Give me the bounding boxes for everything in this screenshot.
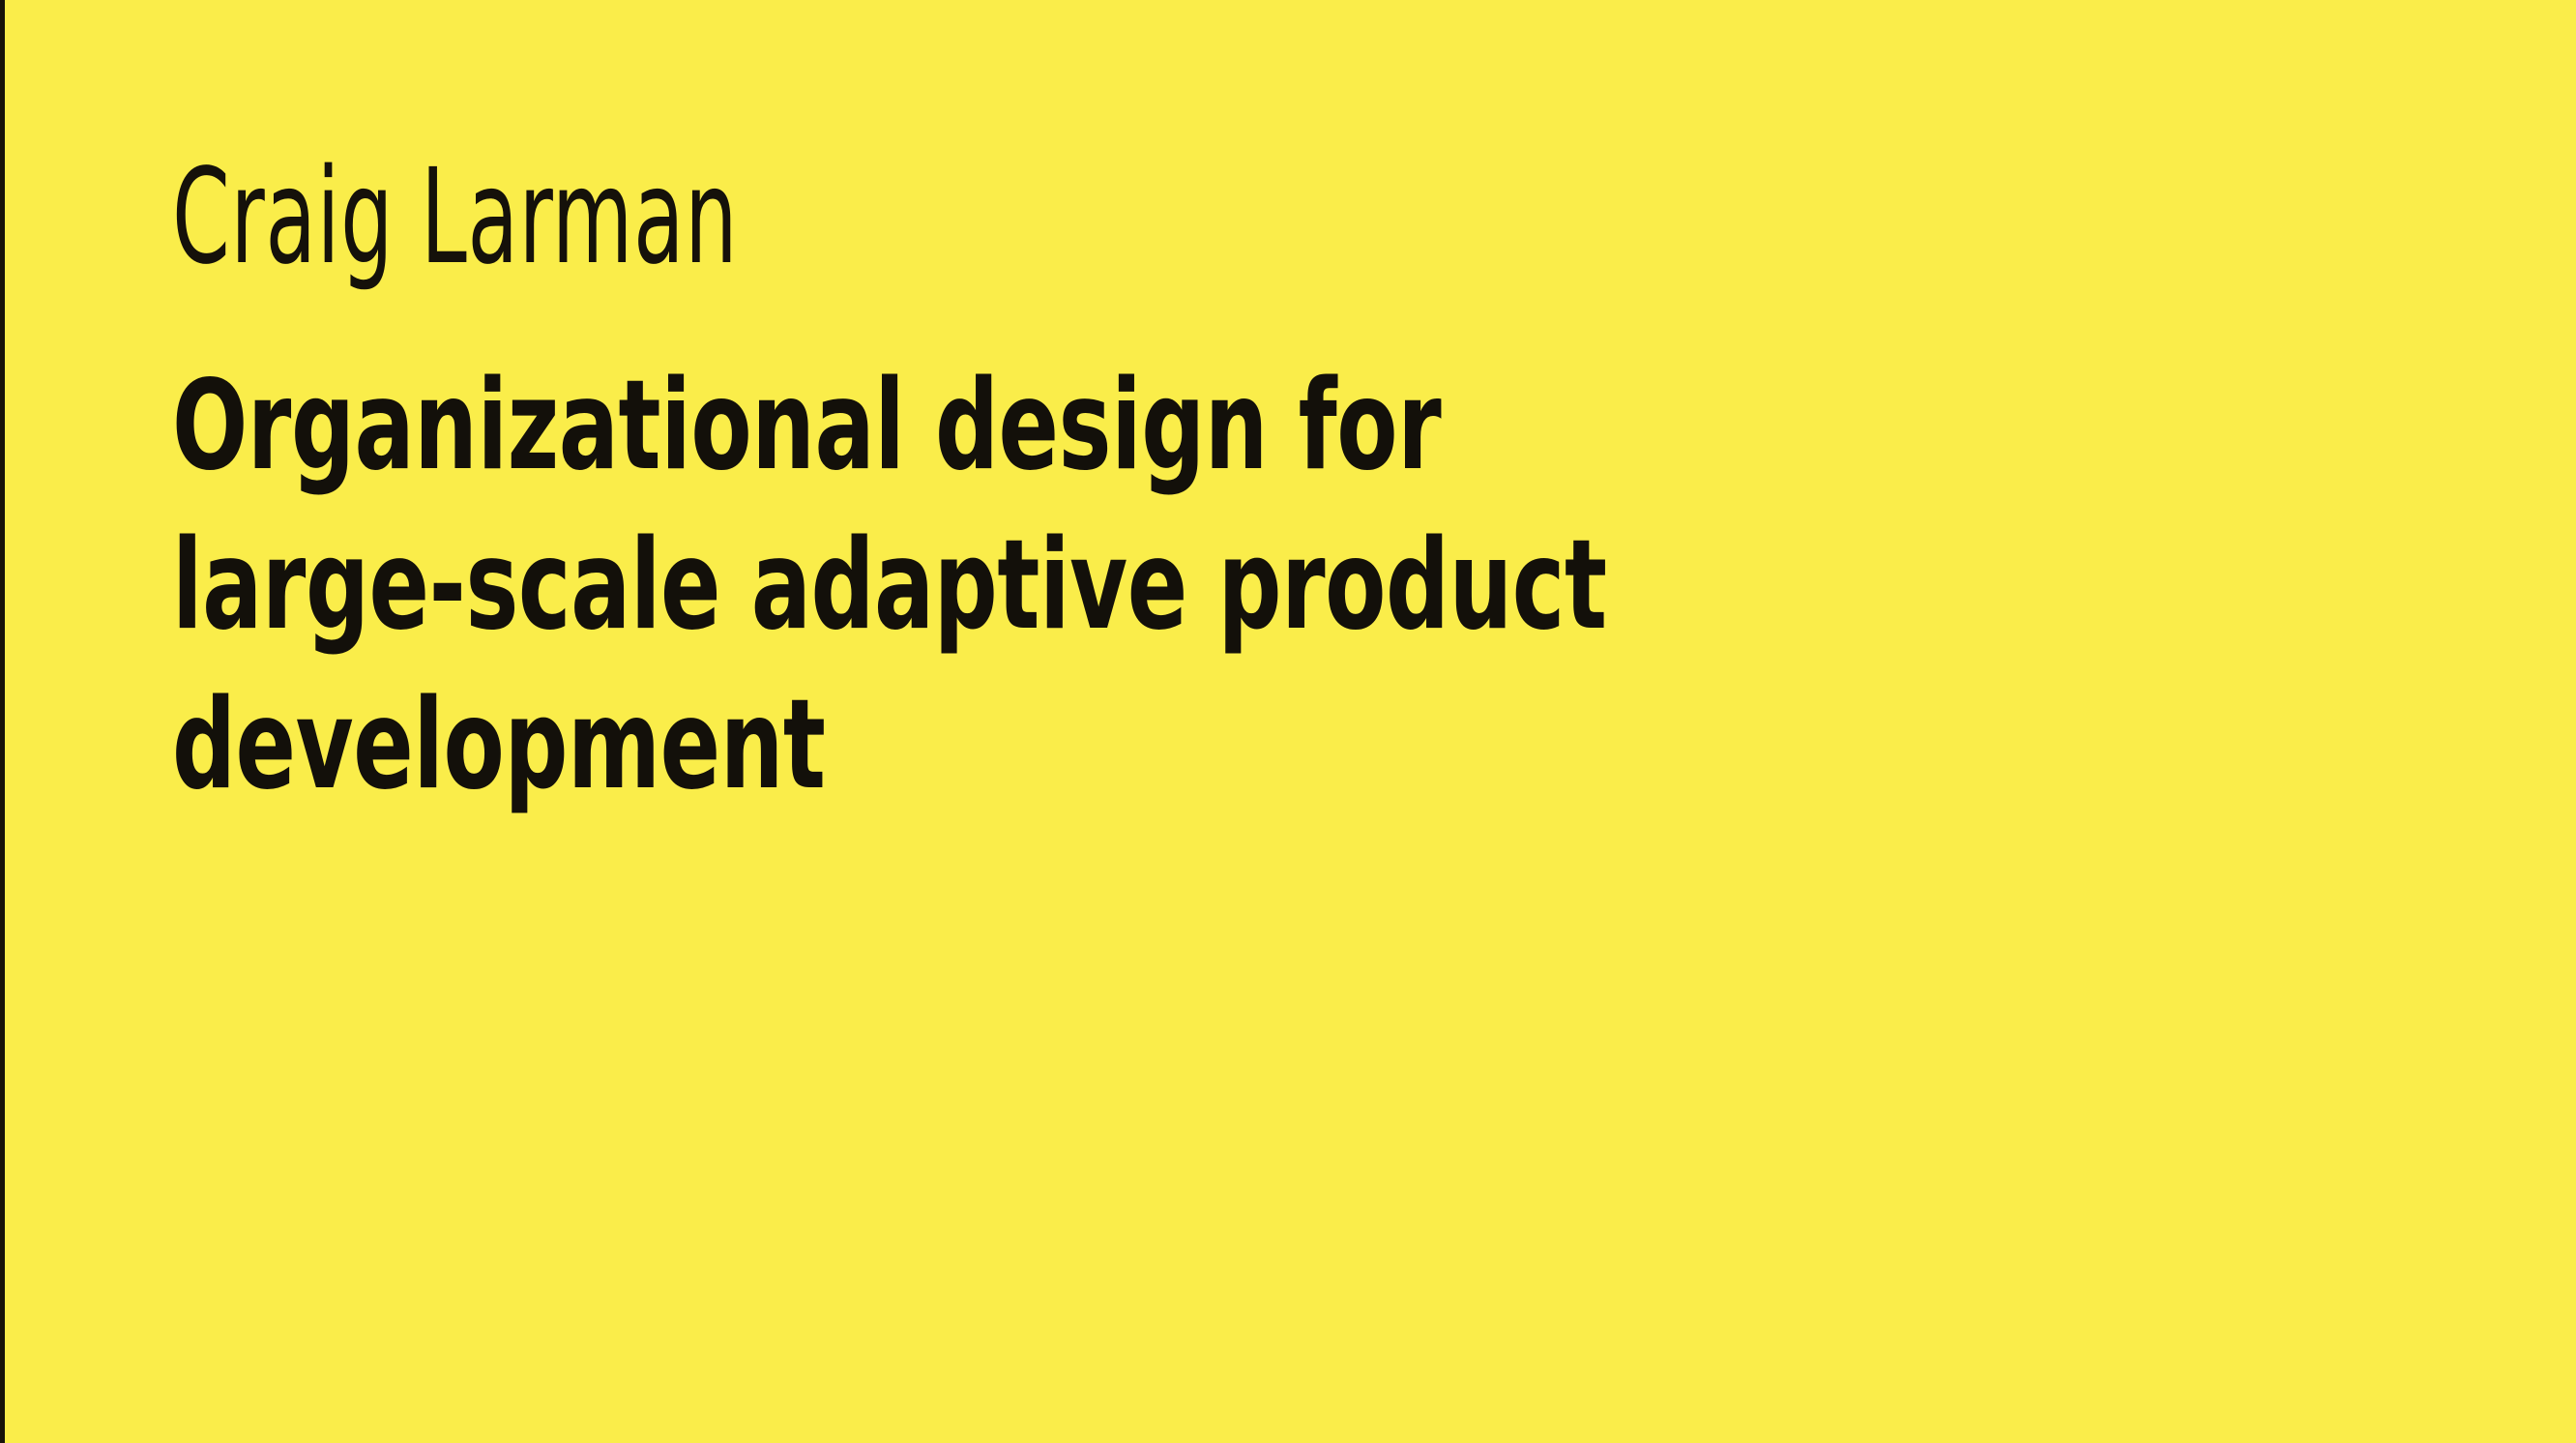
title-line-3: development (172, 665, 1874, 825)
slide-text-block: Craig Larman Organizational design for l… (172, 145, 2299, 825)
title-line-2: large-scale adaptive product (172, 506, 1874, 665)
title-line-1: Organizational design for (172, 346, 1874, 506)
title-slide: Craig Larman Organizational design for l… (0, 0, 2576, 1443)
left-edge-strip (0, 0, 5, 1443)
speaker-name: Craig Larman (172, 145, 1661, 290)
slide-title: Organizational design for large-scale ad… (172, 346, 2299, 825)
